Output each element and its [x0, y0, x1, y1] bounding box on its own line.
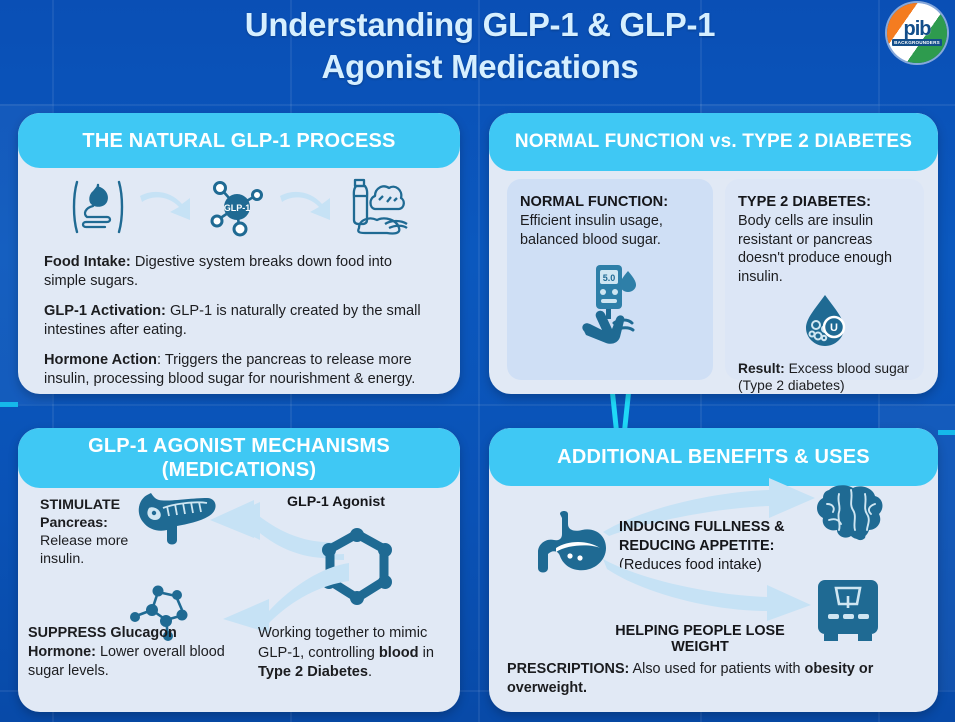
- type2-diabetes-text: Body cells are insulin resistant or panc…: [738, 212, 911, 286]
- subcard-normal-function: NORMAL FUNCTION: Efficient insulin usage…: [507, 179, 713, 380]
- pib-backgrounders-logo: pib BACKGROUNDERS: [887, 3, 947, 63]
- natural-process-text-list: Food Intake: Digestive system breaks dow…: [44, 253, 438, 394]
- list-item-hormone-action: Hormone Action: Triggers the pancreas to…: [44, 351, 438, 389]
- glucometer-hand-icon: 5.0: [520, 261, 700, 347]
- fullness-line-1: INDUCING FULLNESS &: [619, 518, 829, 537]
- insulin-unit-letter: U: [830, 322, 838, 334]
- agonist-heading-line-2: (MEDICATIONS): [162, 458, 316, 482]
- svg-text:GLP-1: GLP-1: [224, 203, 251, 213]
- working-together-text: Working together to mimic GLP-1, control…: [258, 624, 458, 683]
- logo-wordmark: pib: [904, 20, 931, 38]
- digestive-system-icon: [67, 176, 129, 238]
- list-item-glp1-activation: GLP-1 Activation: GLP-1 is naturally cre…: [44, 302, 438, 340]
- page-title: Understanding GLP-1 & GLP-1 Agonist Medi…: [150, 4, 810, 88]
- page-header: Understanding GLP-1 & GLP-1 Agonist Medi…: [0, 0, 955, 98]
- weight-scale-icon: [814, 576, 882, 644]
- hormone-action-label: Hormone Action: [44, 352, 157, 368]
- glp1-activation-label: GLP-1 Activation:: [44, 303, 166, 319]
- result-label: Result:: [738, 361, 785, 376]
- stimulate-rest: Release more insulin.: [40, 533, 128, 567]
- working-mid: in: [419, 645, 434, 661]
- suppress-glucagon-text: SUPPRESS Glucagon Hormone: Lower overall…: [28, 624, 238, 681]
- panel-heading-normal-vs-type2: NORMAL FUNCTION vs. TYPE 2 DIABETES: [489, 113, 938, 171]
- prescriptions-text: PRESCRIPTIONS: Also used for patients wi…: [507, 660, 922, 698]
- page-title-line-2: Agonist Medications: [150, 46, 810, 88]
- glucometer-reading: 5.0: [603, 273, 616, 283]
- agonist-arrow-to-glucagon-icon: [193, 553, 353, 635]
- glp1-molecule-icon: GLP-1: [206, 176, 268, 238]
- food-intake-label: Food Intake:: [44, 254, 131, 270]
- type2-diabetes-title: TYPE 2 DIABETES:: [738, 193, 911, 211]
- panel-heading-natural-process: THE NATURAL GLP-1 PROCESS: [18, 113, 460, 168]
- helping-lose-weight-text: HELPING PEOPLE LOSE WEIGHT: [595, 623, 805, 655]
- panel-connector-arrow: [610, 394, 632, 430]
- prescriptions-label: PRESCRIPTIONS:: [507, 661, 629, 677]
- panel-additional-benefits: ADDITIONAL BENEFITS & USES INDUCI: [489, 428, 938, 712]
- normal-function-text: Efficient insulin usage, balanced blood …: [520, 212, 700, 249]
- working-bold-blood: blood: [379, 645, 419, 661]
- insulin-blood-drop-icon: U: [738, 292, 911, 354]
- panel-heading-agonist-mechanisms: GLP-1 AGONIST MECHANISMS (MEDICATIONS): [18, 428, 460, 488]
- page-title-line-1: Understanding GLP-1 & GLP-1: [150, 4, 810, 46]
- agonist-heading-line-1: GLP-1 AGONIST MECHANISMS: [88, 434, 390, 458]
- panel-natural-glp1-process: THE NATURAL GLP-1 PROCESS: [18, 113, 460, 394]
- process-arrow-1-icon: [138, 186, 196, 228]
- type2-result-line: Result: Excess blood sugar (Type 2 diabe…: [738, 360, 911, 394]
- stimulate-label: STIMULATE Pancreas:: [40, 497, 120, 531]
- panel-agonist-mechanisms: GLP-1 AGONIST MECHANISMS (MEDICATIONS) S…: [18, 428, 460, 712]
- logo-subtitle: BACKGROUNDERS: [892, 39, 942, 46]
- list-item-food-intake: Food Intake: Digestive system breaks dow…: [44, 253, 438, 291]
- subcard-type2-diabetes: TYPE 2 DIABETES: Body cells are insulin …: [725, 179, 924, 380]
- panel-normal-vs-type2: NORMAL FUNCTION vs. TYPE 2 DIABETES NORM…: [489, 113, 938, 394]
- food-basket-icon: [345, 176, 411, 238]
- natural-process-icon-row: GLP-1: [18, 171, 460, 243]
- prescriptions-mid: Also used for patients with: [629, 661, 804, 677]
- normal-function-title: NORMAL FUNCTION:: [520, 193, 700, 211]
- glp1-agonist-label: GLP-1 Agonist: [246, 494, 426, 510]
- process-arrow-2-icon: [278, 186, 336, 228]
- benefit-arrow-to-scale-icon: [599, 553, 814, 623]
- working-end: .: [368, 664, 372, 680]
- working-bold-type2: Type 2 Diabetes: [258, 664, 368, 680]
